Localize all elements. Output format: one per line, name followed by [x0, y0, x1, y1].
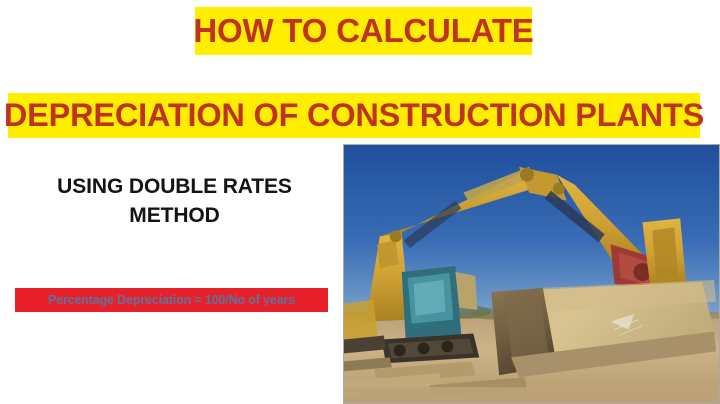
formula-highlight-bar: Percentage Depreciation = 100/No of year…	[15, 288, 328, 312]
formula-text: Percentage Depreciation = 100/No of year…	[48, 293, 295, 307]
subtitle-block: USING DOUBLE RATES METHOD	[22, 172, 327, 230]
title-line-2-highlight: DEPRECIATION OF CONSTRUCTION PLANTS	[8, 93, 700, 138]
subtitle-line-1: USING DOUBLE RATES	[22, 172, 327, 201]
excavator-illustration	[344, 145, 719, 403]
presentation-slide: HOW TO CALCULATE DEPRECIATION OF CONSTRU…	[0, 0, 720, 404]
title-line-1-highlight: HOW TO CALCULATE	[195, 7, 532, 55]
subtitle-line-2: METHOD	[22, 201, 327, 230]
title-line-1-text: HOW TO CALCULATE	[193, 12, 533, 50]
excavator-photo	[343, 144, 720, 404]
title-line-2-text: DEPRECIATION OF CONSTRUCTION PLANTS	[4, 97, 704, 134]
